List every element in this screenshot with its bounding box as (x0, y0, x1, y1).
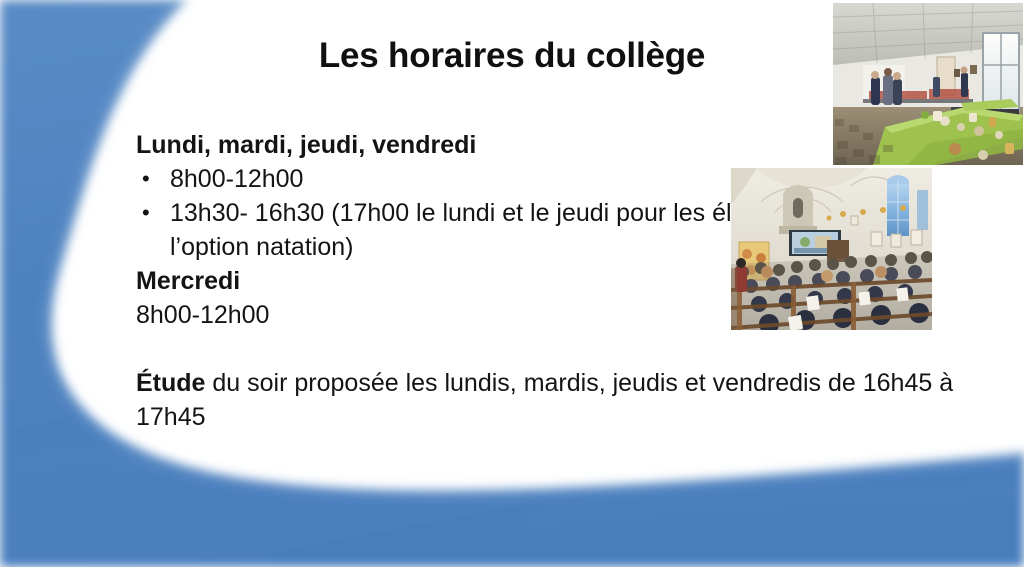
paragraph-spacer (136, 332, 996, 366)
study-note-lead: Étude (136, 369, 205, 397)
presentation-slide: Les horaires du collège Lundi, mardi, je… (0, 0, 1024, 567)
photo-dining-hall (833, 3, 1023, 165)
photo-church-assembly (731, 168, 932, 330)
study-note: Étude du soir proposée les lundis, mardi… (136, 366, 996, 434)
study-note-rest: du soir proposée les lundis, mardis, jeu… (136, 369, 960, 431)
